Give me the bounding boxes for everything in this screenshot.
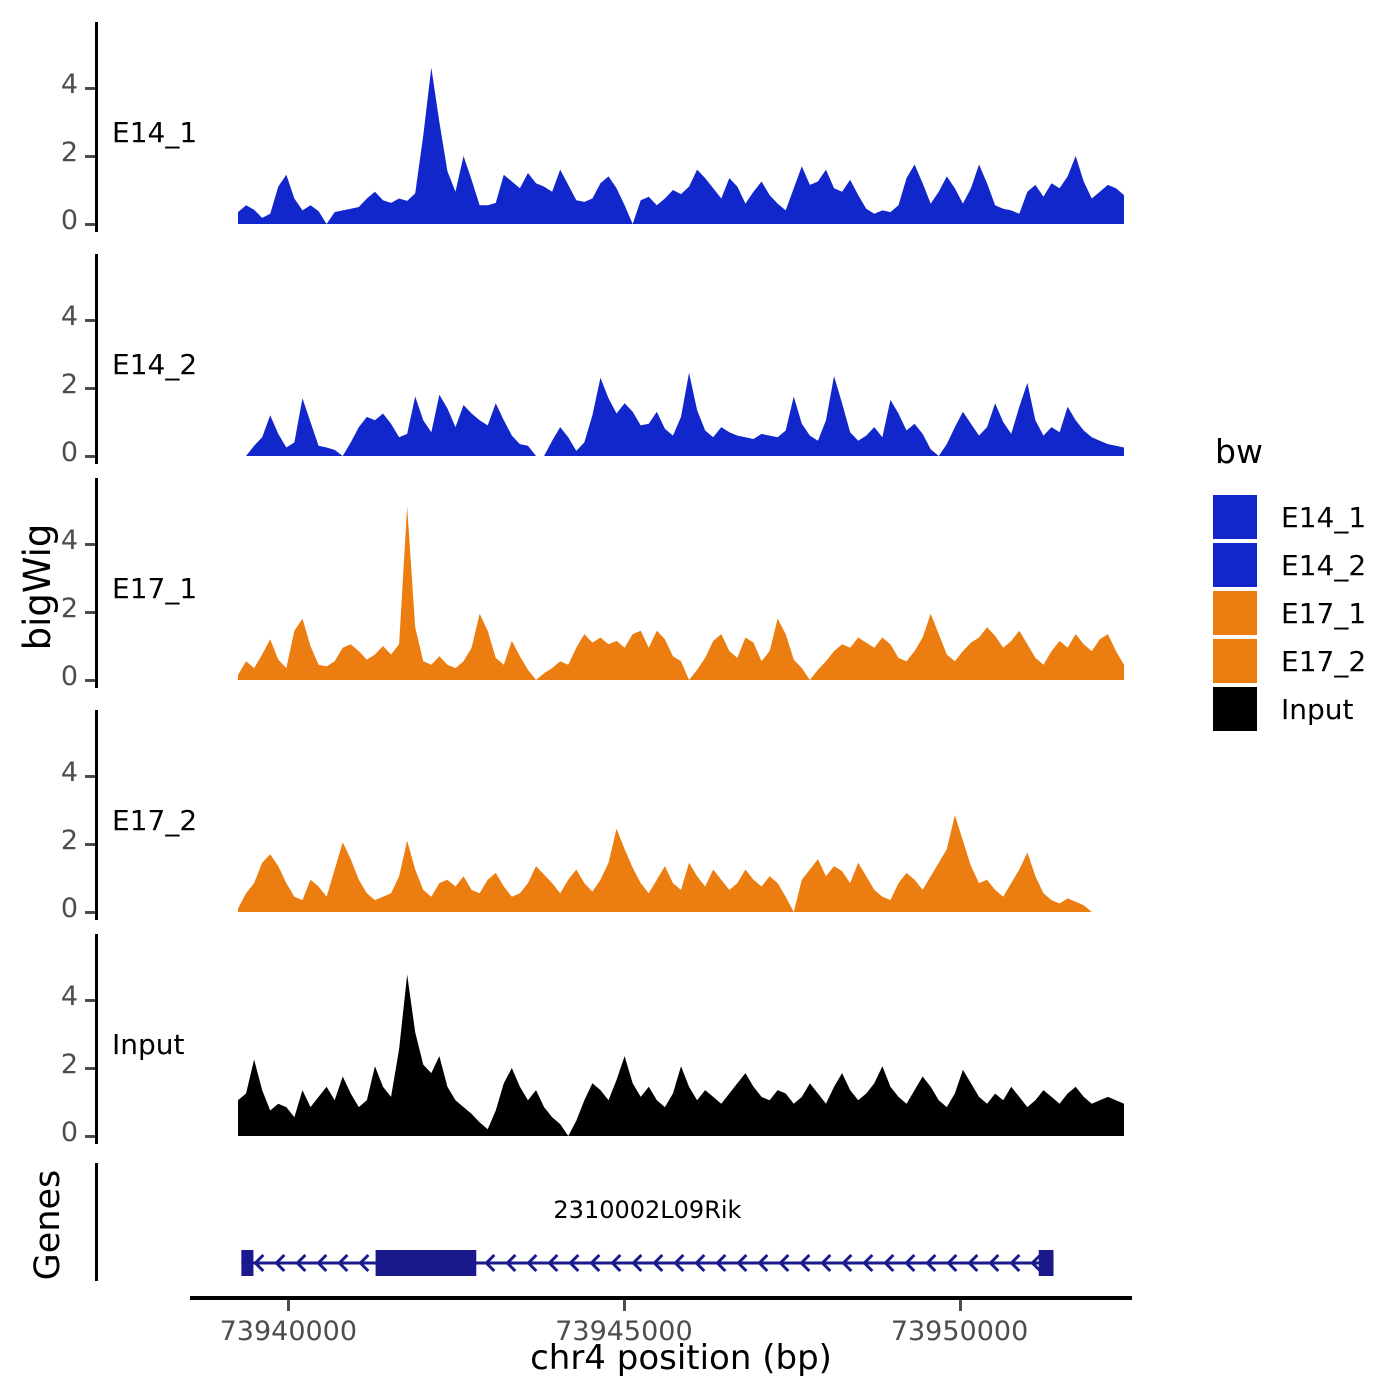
y-tick-label: 0: [38, 1117, 78, 1148]
y-tick-label: 2: [38, 369, 78, 400]
y-tick-label: 2: [38, 825, 78, 856]
y-tick-mark: [85, 543, 95, 546]
y-tick-mark: [85, 843, 95, 846]
legend-item-label: E14_2: [1281, 549, 1366, 582]
y-tick-label: 4: [38, 757, 78, 788]
y-tick-mark: [85, 223, 95, 226]
y-tick-mark: [85, 999, 95, 1002]
y-tick-label: 0: [38, 893, 78, 924]
legend-swatch-icon: [1213, 687, 1257, 731]
gene-name-label: 2310002L09Rik: [447, 1196, 847, 1224]
legend-item-label: E17_2: [1281, 645, 1366, 678]
y-tick-mark: [85, 611, 95, 614]
coverage-track-e17_2[interactable]: [238, 708, 1124, 914]
genome-browser-figure: bigWig Genes 024E14_1024E14_2024E17_1024…: [0, 0, 1400, 1400]
gene-model-track[interactable]: [238, 1240, 1124, 1286]
y-tick-label: 4: [38, 981, 78, 1012]
facet-axis-line-e17_1: [95, 478, 98, 688]
legend-swatch-icon: [1213, 495, 1257, 539]
y-tick-mark: [85, 1067, 95, 1070]
coverage-track-input[interactable]: [238, 932, 1124, 1138]
y-axis-title: bigWig: [16, 487, 60, 687]
y-tick-label: 2: [38, 137, 78, 168]
legend-rows: E14_1E14_2E17_1E17_2Input: [1213, 493, 1366, 733]
y-tick-label: 0: [38, 205, 78, 236]
y-tick-label: 2: [38, 593, 78, 624]
y-tick-mark: [85, 155, 95, 158]
y-tick-label: 0: [38, 437, 78, 468]
y-tick-mark: [85, 87, 95, 90]
y-tick-label: 4: [38, 525, 78, 556]
y-tick-label: 4: [38, 301, 78, 332]
legend-item-e14_1[interactable]: E14_1: [1213, 493, 1366, 541]
facet-axis-line-input: [95, 934, 98, 1144]
legend-swatch-icon: [1213, 591, 1257, 635]
facet-label-e17_1: E17_1: [112, 572, 197, 605]
facet-label-input: Input: [112, 1028, 185, 1061]
legend-item-e14_2[interactable]: E14_2: [1213, 541, 1366, 589]
facet-label-e14_2: E14_2: [112, 348, 197, 381]
x-axis-title: chr4 position (bp): [238, 1338, 1124, 1378]
y-tick-label: 4: [38, 69, 78, 100]
y-tick-mark: [85, 679, 95, 682]
x-tick-mark: [287, 1300, 290, 1311]
legend-title: bw: [1215, 432, 1366, 471]
legend-item-e17_1[interactable]: E17_1: [1213, 589, 1366, 637]
coverage-track-e17_1[interactable]: [238, 476, 1124, 682]
y-tick-mark: [85, 319, 95, 322]
facet-axis-line-e14_1: [95, 22, 98, 232]
y-tick-label: 0: [38, 661, 78, 692]
legend-swatch-icon: [1213, 543, 1257, 587]
legend-item-label: E17_1: [1281, 597, 1366, 630]
genes-panel-title: Genes: [28, 1155, 68, 1295]
y-tick-mark: [85, 455, 95, 458]
x-tick-mark: [623, 1300, 626, 1311]
x-axis-line: [190, 1296, 1132, 1300]
legend-item-label: E14_1: [1281, 501, 1366, 534]
legend: bw E14_1E14_2E17_1E17_2Input: [1213, 432, 1366, 733]
y-tick-mark: [85, 775, 95, 778]
y-tick-label: 2: [38, 1049, 78, 1080]
facet-axis-line-e14_2: [95, 254, 98, 464]
legend-swatch-icon: [1213, 639, 1257, 683]
y-tick-mark: [85, 387, 95, 390]
coverage-track-e14_1[interactable]: [238, 20, 1124, 226]
genes-axis-line: [95, 1163, 98, 1281]
facet-label-e14_1: E14_1: [112, 116, 197, 149]
x-tick-mark: [959, 1300, 962, 1311]
y-tick-mark: [85, 911, 95, 914]
legend-item-label: Input: [1281, 693, 1354, 726]
legend-item-input[interactable]: Input: [1213, 685, 1366, 733]
facet-label-e17_2: E17_2: [112, 804, 197, 837]
legend-item-e17_2[interactable]: E17_2: [1213, 637, 1366, 685]
facet-axis-line-e17_2: [95, 710, 98, 920]
y-tick-mark: [85, 1135, 95, 1138]
coverage-track-e14_2[interactable]: [238, 252, 1124, 458]
